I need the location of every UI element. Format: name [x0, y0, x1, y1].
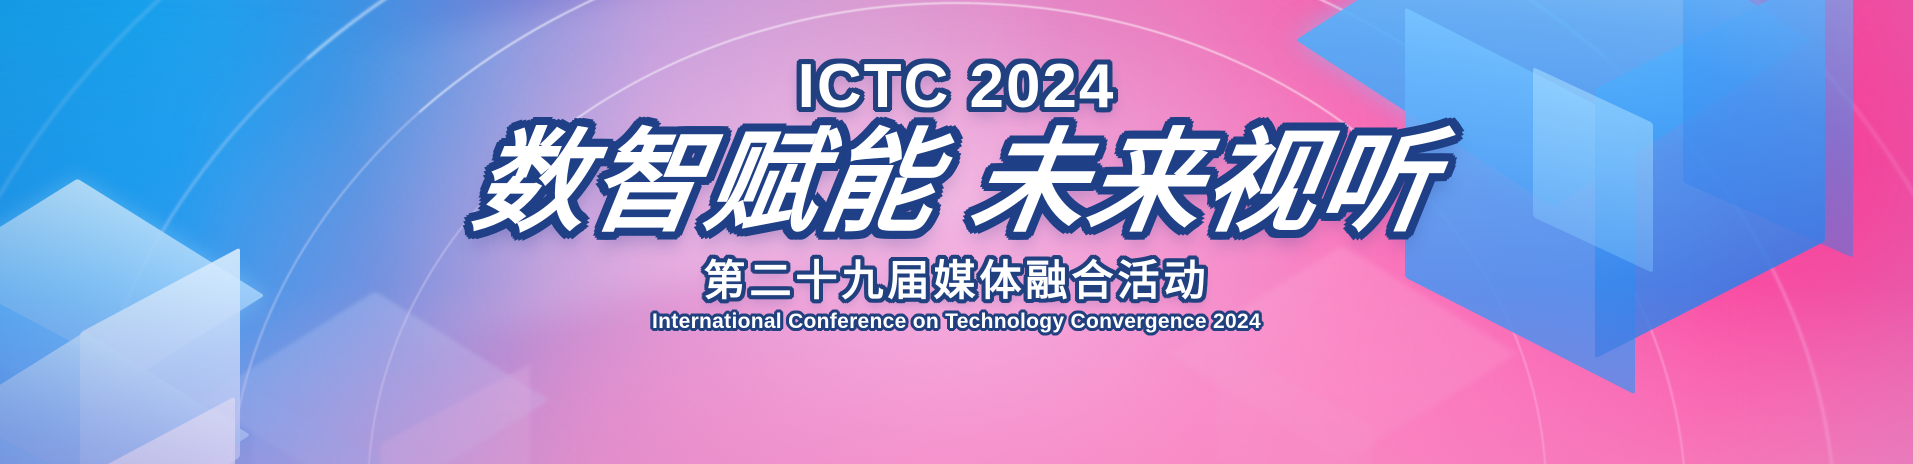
- subtitle-chinese: 第二十九届媒体融合活动: [703, 258, 1209, 304]
- event-code-title: ICTC 2024: [798, 56, 1116, 118]
- cube-face-side: [1683, 0, 1853, 258]
- headline-phrase-right: 未来视听: [964, 120, 1448, 245]
- event-banner: ICTC 2024 数智赋能未来视听 第二十九届媒体融合活动 Internati…: [0, 0, 1913, 464]
- cube-ghost-lower-left: [230, 300, 560, 464]
- headline-phrase-left: 数智赋能: [466, 120, 950, 245]
- main-headline: 数智赋能未来视听: [466, 124, 1447, 242]
- cube-ghost-lower-right: [1193, 254, 1533, 464]
- cube-top-right-sliver: [1653, 0, 1913, 250]
- subtitle-english: International Conference on Technology C…: [652, 310, 1261, 333]
